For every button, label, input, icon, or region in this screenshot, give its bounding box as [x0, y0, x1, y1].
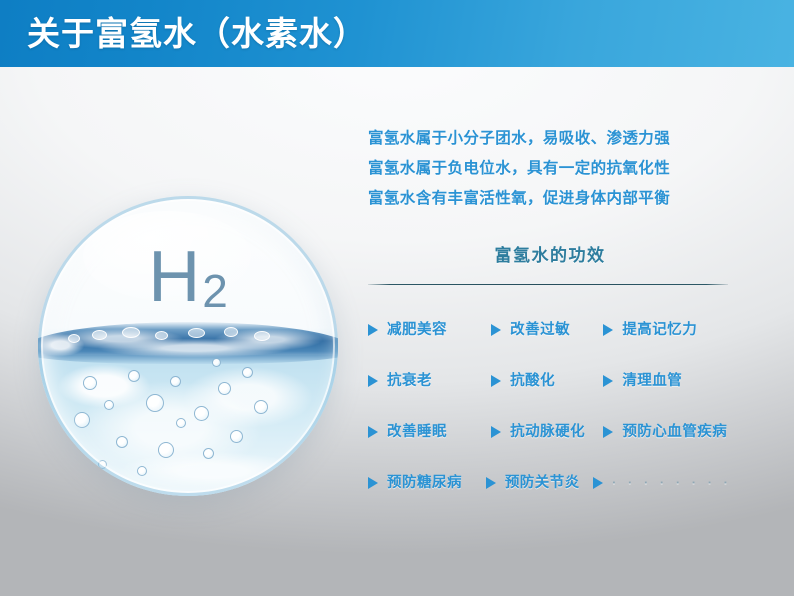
benefit-row: 预防糖尿病 预防关节炎 · · · · · · · ·	[368, 457, 732, 508]
benefit-item[interactable]: 抗衰老	[368, 371, 491, 391]
content-column: 富氢水属于小分子团水，易吸收、渗透力强 富氢水属于负电位水，具有一定的抗氧化性 …	[368, 124, 732, 508]
efficacy-section-title: 富氢水的功效	[368, 244, 732, 268]
benefit-label: 预防糖尿病	[387, 473, 462, 493]
benefit-label: 预防心血管疾病	[622, 422, 727, 442]
benefit-label: 减肥美容	[387, 320, 447, 340]
arrow-right-icon	[603, 426, 613, 438]
arrow-right-icon	[593, 477, 603, 489]
header-banner: 关于富氢水（水素水）	[0, 0, 794, 67]
arrow-right-icon	[368, 426, 378, 438]
arrow-right-icon	[491, 375, 501, 387]
intro-line-3: 富氢水含有丰富活性氧，促进身体内部平衡	[368, 184, 732, 214]
water-sphere-illustration: H2	[38, 196, 338, 496]
arrow-right-icon	[603, 324, 613, 336]
arrow-right-icon	[368, 375, 378, 387]
intro-line-1: 富氢水属于小分子团水，易吸收、渗透力强	[368, 124, 732, 154]
arrow-right-icon	[486, 477, 496, 489]
arrow-right-icon	[603, 375, 613, 387]
benefit-row: 减肥美容 改善过敏 提高记忆力	[368, 304, 732, 355]
benefit-item[interactable]: 减肥美容	[368, 320, 491, 340]
formula-subscript: 2	[202, 265, 228, 317]
hydrogen-formula-label: H2	[38, 238, 338, 330]
benefit-item[interactable]: 提高记忆力	[603, 320, 732, 340]
arrow-right-icon	[368, 477, 378, 489]
arrow-right-icon	[491, 426, 501, 438]
poster-canvas: 关于富氢水（水素水）	[0, 0, 794, 596]
benefit-item[interactable]: 改善过敏	[491, 320, 603, 340]
arrow-right-icon	[491, 324, 501, 336]
benefit-row: 抗衰老 抗酸化 清理血管	[368, 355, 732, 406]
benefit-label: 抗衰老	[387, 371, 432, 391]
benefit-item[interactable]: 改善睡眠	[368, 422, 491, 442]
benefit-label: 清理血管	[622, 371, 682, 391]
water-lower-body	[38, 355, 338, 496]
section-divider	[368, 284, 728, 285]
benefit-item[interactable]: 抗酸化	[491, 371, 603, 391]
benefit-label: 提高记忆力	[622, 320, 697, 340]
benefit-item[interactable]: 预防关节炎	[486, 473, 593, 493]
benefit-item[interactable]: 清理血管	[603, 371, 732, 391]
benefit-label: 抗动脉硬化	[510, 422, 585, 442]
benefit-item[interactable]: 抗动脉硬化	[491, 422, 603, 442]
intro-line-2: 富氢水属于负电位水，具有一定的抗氧化性	[368, 154, 732, 184]
benefit-label: 预防关节炎	[505, 473, 580, 493]
formula-main: H	[148, 237, 202, 317]
sphere-body: H2	[38, 196, 338, 496]
benefit-row: 改善睡眠 抗动脉硬化 预防心血管疾病	[368, 406, 732, 457]
benefit-label: 改善过敏	[510, 320, 570, 340]
benefit-item[interactable]: 预防糖尿病	[368, 473, 486, 493]
benefit-item[interactable]: 预防心血管疾病	[603, 422, 732, 442]
benefit-label: 抗酸化	[510, 371, 555, 391]
page-title: 关于富氢水（水素水）	[27, 12, 367, 56]
benefit-label: 改善睡眠	[387, 422, 447, 442]
benefit-label-ellipsis: · · · · · · · ·	[612, 473, 732, 493]
arrow-right-icon	[368, 324, 378, 336]
benefits-grid: 减肥美容 改善过敏 提高记忆力 抗衰老 抗酸化	[368, 304, 732, 508]
benefit-item-more[interactable]: · · · · · · · ·	[593, 473, 732, 493]
